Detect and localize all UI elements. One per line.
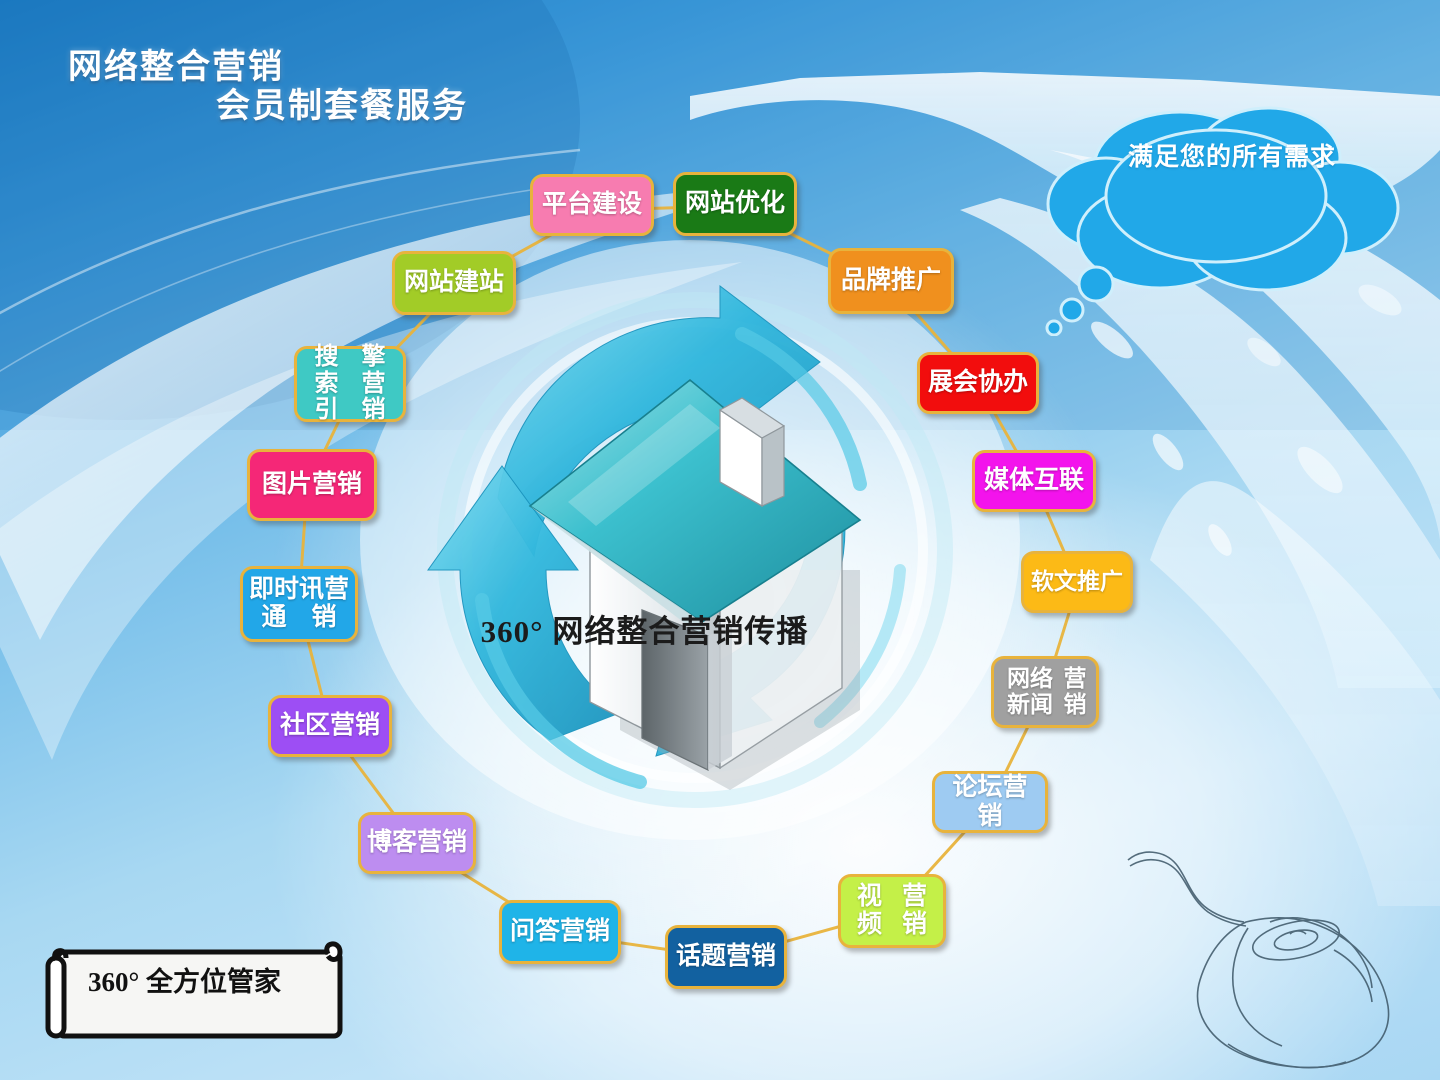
- node-label-line: 论坛营销: [941, 773, 1039, 832]
- node-site-optimize[interactable]: 网站优化: [673, 172, 797, 236]
- slide-canvas: 360° 网络整合营销传播 满足您的所有需求 平台建设网站优化网站建站品牌推广搜…: [0, 0, 1440, 1080]
- node-label-line: 社区营销: [280, 711, 380, 741]
- node-video-marketing[interactable]: 视频营销: [838, 874, 946, 948]
- thought-cloud: 满足您的所有需求: [1040, 96, 1400, 336]
- node-image-marketing[interactable]: 图片营销: [247, 449, 377, 521]
- node-media-link[interactable]: 媒体互联: [972, 450, 1096, 512]
- node-im-marketing[interactable]: 即时通讯营销: [240, 566, 358, 642]
- node-label-line: 网站优化: [685, 189, 785, 219]
- node-label-line: 软文推广: [1031, 568, 1123, 595]
- title-block: 网络整合营销 会员制套餐服务: [68, 48, 468, 126]
- node-expo-coop[interactable]: 展会协办: [917, 352, 1039, 414]
- node-label-line: 博客营销: [367, 828, 467, 858]
- node-label-line: 视频: [847, 883, 892, 939]
- node-platform-build[interactable]: 平台建设: [530, 174, 654, 236]
- cloud-shape: [1040, 96, 1400, 336]
- node-label-line: 搜索引: [303, 344, 350, 425]
- node-label-line: 媒体互联: [984, 466, 1084, 496]
- node-label-line: 营销: [892, 883, 937, 939]
- title-line-1: 网络整合营销: [68, 48, 468, 87]
- node-label-line: 网站建站: [404, 268, 504, 298]
- node-community[interactable]: 社区营销: [268, 695, 392, 757]
- node-softtext-promote[interactable]: 软文推广: [1021, 551, 1133, 613]
- node-blog-marketing[interactable]: 博客营销: [358, 812, 476, 874]
- node-label-line: 即时通: [249, 576, 299, 632]
- node-label-line: 话题营销: [676, 942, 776, 972]
- node-label-line: 图片: [262, 471, 312, 499]
- node-label-line: 平台建设: [542, 190, 642, 220]
- scroll-banner: 360° 全方位管家: [36, 938, 356, 1050]
- center-label: 360° 网络整合营销传播: [472, 612, 817, 653]
- node-forum-marketing[interactable]: 论坛营销: [932, 771, 1048, 833]
- node-web-news[interactable]: 网络新闻营销: [991, 656, 1099, 728]
- node-sem-marketing[interactable]: 搜索引擎营销: [294, 346, 406, 422]
- computer-mouse-icon: [1120, 830, 1430, 1075]
- node-label-line: 展会协办: [928, 368, 1028, 398]
- node-label-line: 营销: [1060, 666, 1090, 718]
- node-label-line: 擎营销: [350, 344, 397, 425]
- node-brand-promote[interactable]: 品牌推广: [828, 248, 954, 314]
- node-qa-marketing[interactable]: 问答营销: [499, 900, 621, 964]
- node-site-build[interactable]: 网站建站: [392, 251, 516, 315]
- node-label-line: 讯营销: [299, 576, 349, 632]
- node-label-line: 品牌推广: [841, 266, 941, 296]
- node-label-line: 网络新闻: [1000, 666, 1060, 718]
- node-topic-marketing[interactable]: 话题营销: [665, 925, 787, 989]
- cloud-text: 满足您的所有需求: [1128, 142, 1348, 173]
- title-line-2: 会员制套餐服务: [216, 87, 468, 126]
- scroll-banner-text: 360° 全方位管家: [88, 964, 338, 1000]
- node-label-line: 营销: [312, 471, 362, 499]
- node-label-line: 问答营销: [510, 917, 610, 947]
